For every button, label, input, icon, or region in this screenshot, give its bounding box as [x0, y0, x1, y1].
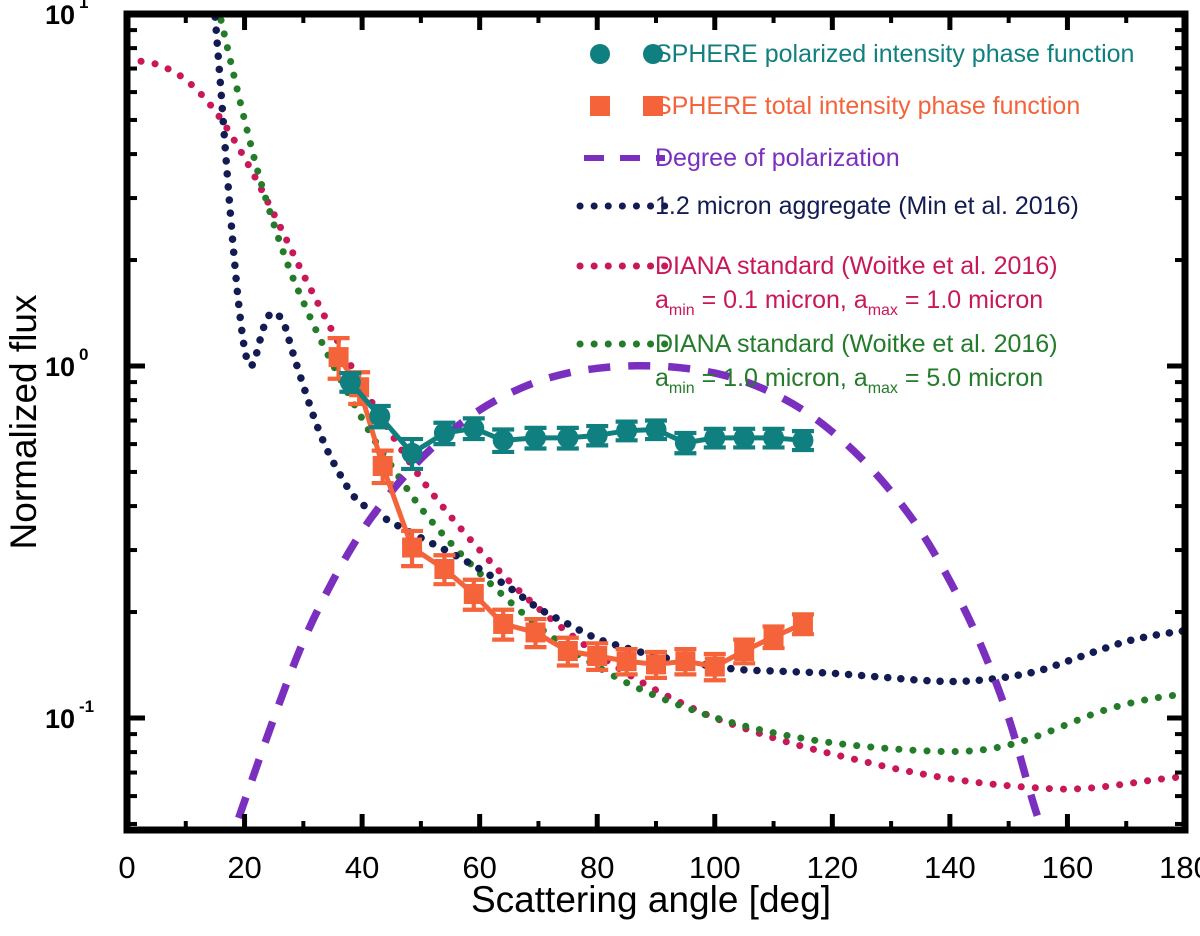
data-point [493, 430, 514, 451]
x-tick-label: 140 [924, 850, 976, 885]
legend-item-0[interactable]: SPHERE polarized intensity phase functio… [590, 40, 1134, 68]
legend: SPHERE polarized intensity phase functio… [580, 40, 1134, 397]
chart-figure: 02040608010012014016018010110010-1 Scatt… [0, 0, 1200, 936]
x-axis-title: Scattering angle [deg] [471, 879, 831, 920]
data-point [646, 654, 666, 674]
data-point [558, 641, 578, 661]
data-point [587, 425, 608, 446]
data-point [675, 432, 696, 453]
y-tick-exponent: -1 [79, 697, 94, 716]
data-point [587, 646, 607, 666]
data-point [402, 443, 423, 464]
figure-background [0, 0, 1200, 936]
y-axis-title: Normalized flux [3, 294, 44, 549]
data-point [616, 420, 637, 441]
legend-item-1[interactable]: SPHERE total intensity phase function [590, 92, 1080, 120]
data-point [464, 584, 484, 604]
data-point [369, 406, 390, 427]
x-tick-label: 20 [227, 850, 261, 885]
legend-label: DIANA standard (Woitke et al. 2016) [655, 330, 1058, 358]
x-tick-label: 0 [118, 850, 135, 885]
data-point [792, 430, 813, 451]
data-point [734, 641, 754, 661]
data-point [617, 651, 637, 671]
legend-label: SPHERE total intensity phase function [655, 92, 1080, 120]
data-point [434, 559, 454, 579]
data-point [705, 657, 725, 677]
data-point [340, 372, 361, 393]
y-tick-exponent: 1 [79, 0, 88, 12]
legend-label: SPHERE polarized intensity phase functio… [655, 40, 1134, 68]
data-point [463, 418, 484, 439]
x-tick-label: 160 [1042, 850, 1094, 885]
data-point [704, 427, 725, 448]
data-point [526, 622, 546, 642]
data-point [675, 651, 695, 671]
legend-item-3[interactable]: 1.2 micron aggregate (Min et al. 2016) [580, 192, 1079, 220]
data-point [373, 456, 393, 476]
legend-label: Degree of polarization [655, 144, 900, 172]
legend-circle-icon [590, 44, 610, 64]
x-tick-label: 180 [1159, 850, 1200, 885]
data-point [646, 419, 667, 440]
y-tick-mantissa: 10 [45, 0, 75, 30]
y-tick-mantissa: 10 [45, 352, 75, 382]
legend-label: DIANA standard (Woitke et al. 2016) [655, 252, 1058, 280]
data-point [763, 427, 784, 448]
y-tick-mantissa: 10 [45, 704, 75, 734]
data-point [764, 627, 784, 647]
data-point [557, 427, 578, 448]
data-point [434, 423, 455, 444]
data-point [493, 614, 513, 634]
y-tick-exponent: 0 [79, 345, 88, 364]
data-point [525, 427, 546, 448]
data-point [402, 538, 422, 558]
data-point [734, 427, 755, 448]
data-point [329, 347, 349, 367]
x-tick-label: 40 [345, 850, 379, 885]
legend-square-icon [590, 96, 610, 116]
scatter-log-plot: 02040608010012014016018010110010-1 Scatt… [0, 0, 1200, 936]
data-point [793, 614, 813, 634]
legend-label: 1.2 micron aggregate (Min et al. 2016) [655, 192, 1079, 220]
